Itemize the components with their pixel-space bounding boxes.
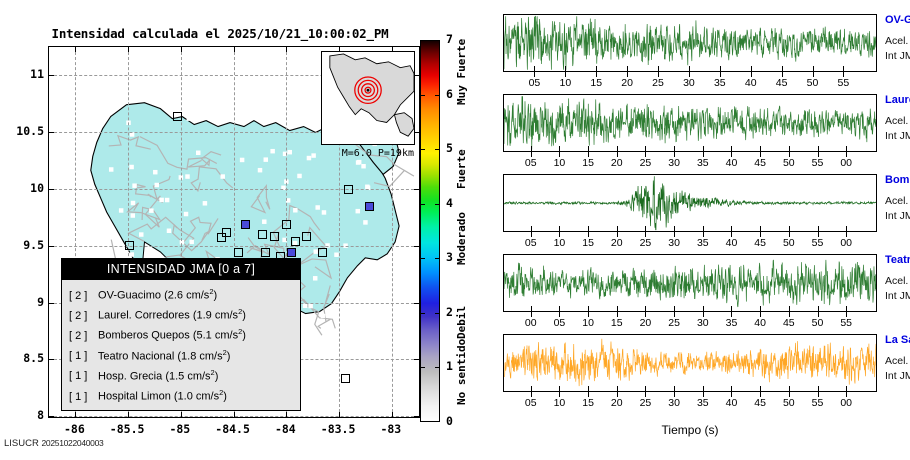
footer-agency: LISUCR [4,438,39,449]
legend-entry-close: ) [242,310,246,322]
waveform-station-info: Bomberos QueposAcel. Max. 1.5Int JMA: 2 [885,174,910,222]
waveform-tick-label: 35 [690,157,716,169]
waveform-tick-label: 25 [661,317,687,329]
waveform-tick-label: 10 [546,397,572,409]
waveform-panel[interactable]: 051015202530354045505500Bomberos QueposA… [503,174,907,252]
map-y-tick-label: 9 [4,295,44,309]
station-marker[interactable] [291,237,300,246]
station-marker[interactable] [302,232,311,241]
map-cell [288,150,292,154]
waveform-station-name[interactable]: Bomberos Quepos [885,174,910,186]
legend-entry-station: Laurel. Corredores [95,310,193,322]
waveform-tick-label: 35 [690,397,716,409]
waveform-tick-top [782,66,783,71]
waveform-panels: Tiempo (s) 0510152025303540455055OV-Guac… [503,14,907,434]
waveform-max-acceleration: Acel. Max. 1.5 [885,195,910,207]
station-marker[interactable] [234,248,243,257]
waveform-tick-label: 25 [632,157,658,169]
map-x-tick-label: -85 [150,422,210,436]
waveform-tick-label: 30 [661,397,687,409]
waveform-tick-top [559,386,560,391]
map-cell [196,151,200,155]
map-cell [240,158,244,162]
colorbar-category-label: Fuerte [455,149,468,189]
map-tick [286,412,287,417]
colorbar-category-label: No sentido [455,339,468,405]
waveform-tick-label: 05 [518,157,544,169]
legend-entry-close: ) [223,391,227,403]
waveform-tick-top [731,226,732,231]
colorbar-tick-label: 2 [446,305,453,319]
station-marker[interactable] [344,185,353,194]
legend-entry-value: (1.0 cm/s [174,391,219,403]
map-cell [363,220,367,224]
waveform-tick-label: 05 [518,397,544,409]
map-tick [128,412,129,417]
waveform-tick-top [645,146,646,151]
waveform-svg [504,15,876,71]
waveform-tick-top [731,306,732,311]
map-tick [414,416,419,417]
map-y-tick-label: 10 [4,181,44,195]
legend-entry-station: Hospital Limon [95,391,174,403]
waveform-panel[interactable]: 051015202530354045505500Laurel, Corredor… [503,94,907,172]
map-cell [361,164,365,168]
waveform-tick-top [627,66,628,71]
waveform-time-axis: 000510152025303540455055 [503,312,877,330]
waveform-jma-intensity: Int JMA: 1 [885,290,910,302]
legend-entry-level: [ 2 ] [69,309,95,325]
map-cell [159,198,163,202]
waveform-tick-top [531,226,532,231]
waveform-tick-label: 05 [546,317,572,329]
waveform-trace-box[interactable] [503,14,877,72]
waveform-tick-top [818,146,819,151]
legend-entry-level: [ 1 ] [69,390,95,406]
map-tick [75,47,76,52]
waveform-tick-top [818,386,819,391]
waveform-tick-label: 55 [805,157,831,169]
intensity-map[interactable]: M=6.0 P=19km INTENSIDAD JMA [0 a 7] [ 2 … [48,46,420,418]
map-cell [311,153,315,157]
footer-credit: LISUCR 20251022040003 [4,438,103,449]
station-marker[interactable] [287,248,296,257]
map-tick [49,303,54,304]
waveform-jma-intensity: Int JMA: 0 [885,370,910,382]
intensity-legend: INTENSIDAD JMA [0 a 7] [ 2 ] OV-Guacimo … [61,258,301,411]
station-marker[interactable] [125,241,134,250]
map-cell [149,208,153,212]
waveform-tick-label: 15 [583,77,609,89]
waveform-station-info: La SabanaAcel. Max. 0.1Int JMA: 0 [885,334,910,382]
colorbar-tick [435,95,440,96]
colorbar-tick [435,149,440,150]
colorbar-tick [435,258,440,259]
epicenter-dot [367,89,370,92]
waveform-tick-label: 45 [747,157,773,169]
waveform-tick-label: 20 [614,77,640,89]
legend-entry-level: [ 1 ] [69,369,95,385]
waveform-tick-label: 10 [575,317,601,329]
waveform-tick-top [588,226,589,231]
legend-entry-close: ) [213,290,217,302]
colorbar-category-label: Moderado [455,212,468,265]
waveform-tick-top [751,66,752,71]
map-tick [414,359,419,360]
colorbar-tick [420,95,425,96]
waveform-tick-label: 15 [575,157,601,169]
waveform-tick-label: 15 [575,237,601,249]
colorbar-category-label: Muy Fuerte [455,39,468,105]
map-tick [234,412,235,417]
waveform-max-acceleration: Acel. Max. 1.6 [885,35,910,47]
waveform-tick-label: 40 [747,317,773,329]
waveform-tick-top [617,226,618,231]
waveform-tick-top [645,306,646,311]
legend-entry-close: ) [215,370,219,382]
waveform-tick-top [531,386,532,391]
map-cell [264,157,268,161]
waveform-tick-top [789,226,790,231]
map-cell [243,115,247,119]
waveform-tick-label: 20 [604,237,630,249]
waveform-tick-top [559,306,560,311]
waveform-tick-top [645,226,646,231]
map-cell [307,156,311,160]
waveform-tick-label: 25 [632,237,658,249]
station-marker[interactable] [282,220,291,229]
map-cell [321,314,325,318]
waveform-tick-label: 10 [552,77,578,89]
waveform-tick-label: 40 [718,397,744,409]
waveform-trace [504,96,876,149]
map-cell [315,205,319,209]
waveform-tick-top [789,146,790,151]
map-cell [155,183,159,187]
page-title: Intensidad calculada el 2025/10/21_10:00… [0,26,440,41]
inset-locator-map[interactable] [321,51,415,145]
map-cell [256,114,260,118]
waveform-tick-top [617,306,618,311]
map-tick [49,132,54,133]
map-cell [167,229,171,233]
map-cell [313,276,317,280]
waveform-tick-top [703,386,704,391]
map-x-tick-label: -83.5 [308,422,368,436]
waveform-tick-top [846,146,847,151]
map-cell [132,183,136,187]
station-marker[interactable] [173,112,182,121]
waveform-tick-top [531,306,532,311]
map-x-axis-labels: -86-85.5-85-84.5-84-83.5-83 [48,422,420,440]
map-cell [308,304,312,308]
waveform-panel[interactable]: 0510152025303540455055OV-GuacimoAcel. Ma… [503,14,907,92]
map-cell [189,240,193,244]
waveform-station-info: Teatro NacionalAcel. Max. 1.2Int JMA: 1 [885,254,910,302]
waveform-tick-label: 00 [833,397,859,409]
waveform-tick-label: 25 [645,77,671,89]
legend-entry: [ 2 ] OV-Guacimo (2.6 cm/s2) [69,284,300,304]
waveform-tick-top [760,306,761,311]
waveform-tick-label: 50 [776,157,802,169]
map-cell [109,167,113,171]
colorbar-tick-label: 4 [446,196,453,210]
map-cell [258,168,262,172]
waveform-tick-label: 05 [521,77,547,89]
map-tick [414,246,419,247]
colorbar-tick-label: 7 [446,32,453,46]
waveform-tick-label: 15 [604,317,630,329]
map-cell [297,174,301,178]
colorbar-gradient [420,40,440,422]
waveform-tick-top [674,306,675,311]
waveform-tick-label: 45 [769,77,795,89]
waveform-tick-top [731,146,732,151]
map-gridline-horizontal [49,246,419,247]
waveform-tick-label: 40 [718,237,744,249]
map-cell [357,160,361,164]
waveform-tick-label: 55 [830,77,856,89]
station-marker[interactable] [270,232,279,241]
map-x-tick-label: -84 [255,422,315,436]
station-marker[interactable] [318,248,327,257]
waveform-station-name[interactable]: OV-Guacimo [885,14,910,26]
waveform-tick-label: 20 [632,317,658,329]
station-marker[interactable] [365,202,374,211]
map-y-tick-label: 9.5 [4,238,44,252]
waveform-tick-label: 15 [575,397,601,409]
waveform-trace-box[interactable] [503,334,877,392]
map-cell [119,208,123,212]
map-x-tick-label: -84.5 [203,422,263,436]
legend-entry-station: Bomberos Quepos [95,330,193,342]
waveform-tick-label: 30 [661,237,687,249]
waveform-jma-intensity: Int JMA: 2 [885,210,910,222]
waveform-tick-top [565,66,566,71]
waveform-tick-top [645,386,646,391]
waveform-tick-label: 00 [833,157,859,169]
legend-title: INTENSIDAD JMA [0 a 7] [62,259,300,280]
map-cell [139,232,143,236]
waveform-time-axis: 051015202530354045505500 [503,232,877,250]
waveform-tick-top [617,146,618,151]
waveform-tick-top [588,386,589,391]
waveform-tick-label: 30 [661,157,687,169]
legend-entry-close: ) [227,350,231,362]
waveform-tick-top [846,386,847,391]
waveform-tick-label: 55 [805,397,831,409]
map-cell [131,201,135,205]
legend-entry-value: (1.5 cm/s [165,370,210,382]
map-gridline-horizontal [49,189,419,190]
map-cell [293,208,297,212]
waveform-tick-top [689,66,690,71]
map-tick [286,47,287,52]
map-tick [75,412,76,417]
colorbar-tick-label: 1 [446,359,453,373]
waveform-svg [504,255,876,311]
station-marker[interactable] [258,230,267,239]
legend-entry: [ 1 ] Teatro Nacional (1.8 cm/s2) [69,345,300,365]
waveform-tick-label: 35 [718,317,744,329]
station-marker[interactable] [341,374,350,383]
colorbar-tick [435,204,440,205]
map-tick [49,189,54,190]
colorbar-tick-label: 0 [446,414,453,428]
waveform-svg [504,335,876,391]
colorbar-tick [420,313,425,314]
map-cell [187,116,191,120]
waveform-panel[interactable]: 000510152025303540455055Teatro NacionalA… [503,254,907,332]
map-cell [131,213,135,217]
waveform-trace [504,260,876,307]
legend-entry-station: Hosp. Grecia [95,370,165,382]
map-tick [49,246,54,247]
waveform-tick-top [588,306,589,311]
map-cell [203,201,207,205]
legend-entry-level: [ 2 ] [69,329,95,345]
waveform-time-axis: 0510152025303540455055 [503,72,877,90]
colorbar-tick [435,313,440,314]
waveform-tick-top [813,66,814,71]
map-cell [322,210,326,214]
map-y-axis-labels: 1110.5109.598.58 [0,46,44,418]
waveform-tick-top [818,226,819,231]
waveform-tick-label: 30 [676,77,702,89]
waveform-tick-top [531,146,532,151]
waveform-tick-label: 10 [546,237,572,249]
waveform-station-name[interactable]: Laurel, Corredores [885,94,910,106]
waveform-tick-top [703,146,704,151]
waveform-time-axis: 051015202530354045505500 [503,392,877,410]
map-cell [185,174,189,178]
colorbar-tick [420,149,425,150]
waveform-tick-top [789,306,790,311]
waveform-tick-label: 50 [776,397,802,409]
colorbar-tick-label: 6 [446,87,453,101]
map-tick [49,75,54,76]
intensity-colorbar: 76543210 Muy FuerteFuerteModeradoDebilNo… [420,40,490,422]
map-cell [303,304,307,308]
waveform-trace [504,176,876,230]
waveform-svg [504,95,876,151]
waveform-tick-top [703,226,704,231]
map-cell [313,249,317,253]
map-tick [339,412,340,417]
map-x-tick-label: -85.5 [97,422,157,436]
waveform-tick-top [846,226,847,231]
map-cell [305,113,309,117]
waveform-tick-label: 40 [718,157,744,169]
map-y-tick-label: 8 [4,408,44,422]
waveform-max-acceleration: Acel. Max. 0.1 [885,355,910,367]
waveform-panel[interactable]: 051015202530354045505500La SabanaAcel. M… [503,334,907,412]
waveform-tick-top [846,306,847,311]
waveform-trace-box[interactable] [503,174,877,232]
colorbar-tick [435,367,440,368]
colorbar-tick-label: 5 [446,141,453,155]
waveform-jma-intensity: Int JMA: 2 [885,50,910,62]
map-cell [184,212,188,216]
footer-code: 20251022040003 [41,438,103,448]
map-tick [181,412,182,417]
waveform-trace-box[interactable] [503,94,877,152]
waveform-tick-top [760,226,761,231]
colorbar-tick-label: 3 [446,250,453,264]
station-marker[interactable] [217,233,226,242]
legend-entry-station: OV-Guacimo [95,290,164,302]
legend-entry: [ 2 ] Laurel. Corredores (1.9 cm/s2) [69,304,300,324]
station-marker[interactable] [241,220,250,229]
waveform-max-acceleration: Acel. Max. 1.6 [885,115,910,127]
waveform-max-acceleration: Acel. Max. 1.2 [885,275,910,287]
waveform-tick-label: 30 [690,317,716,329]
waveform-tick-label: 05 [518,237,544,249]
waveform-tick-top [534,66,535,71]
waveform-tick-label: 35 [707,77,733,89]
map-tick [234,47,235,52]
map-x-tick-label: -86 [44,422,104,436]
legend-entry: [ 1 ] Hospital Limon (1.0 cm/s2) [69,385,300,405]
waveform-tick-top [674,226,675,231]
waveform-svg [504,175,876,231]
waveform-trace [504,16,876,70]
legend-entry-station: Teatro Nacional [95,350,177,362]
waveform-tick-top [760,146,761,151]
waveform-tick-label: 20 [604,397,630,409]
legend-entry-value: (1.9 cm/s [193,310,238,322]
legend-entry-level: [ 2 ] [69,289,95,305]
waveform-tick-top [617,386,618,391]
map-cell [153,170,157,174]
map-cell [334,252,338,256]
waveform-tick-top [658,66,659,71]
waveform-station-info: OV-GuacimoAcel. Max. 1.6Int JMA: 2 [885,14,910,62]
waveform-tick-top [720,66,721,71]
map-cell [130,252,134,256]
waveform-time-axis: 051015202530354045505500 [503,152,877,170]
colorbar-category-label: Debil [455,306,468,339]
map-tick [49,359,54,360]
waveform-tick-label: 45 [747,397,773,409]
waveform-trace-box[interactable] [503,254,877,312]
map-tick [181,47,182,52]
colorbar-tick [420,258,425,259]
waveform-tick-top [674,146,675,151]
map-cell [129,165,133,169]
waveform-station-name[interactable]: La Sabana [885,334,910,346]
waveform-tick-label: 00 [518,317,544,329]
station-marker[interactable] [261,248,270,257]
map-y-tick-label: 11 [4,67,44,81]
map-cell [356,209,360,213]
waveform-tick-label: 55 [805,237,831,249]
map-y-tick-label: 8.5 [4,351,44,365]
map-cell [270,149,274,153]
legend-entry-close: ) [242,330,246,342]
map-tick [128,47,129,52]
waveform-tick-top [760,386,761,391]
waveform-tick-label: 45 [747,237,773,249]
map-cell [262,219,266,223]
map-x-tick-label: -83 [361,422,421,436]
waveform-station-info: Laurel, CorredoresAcel. Max. 1.6Int JMA:… [885,94,910,142]
map-tick [414,189,419,190]
legend-entry-value: (2.6 cm/s [164,290,209,302]
waveform-station-name[interactable]: Teatro Nacional [885,254,910,266]
time-axis-label: Tiempo (s) [503,423,877,437]
epicenter-marker [322,52,414,144]
